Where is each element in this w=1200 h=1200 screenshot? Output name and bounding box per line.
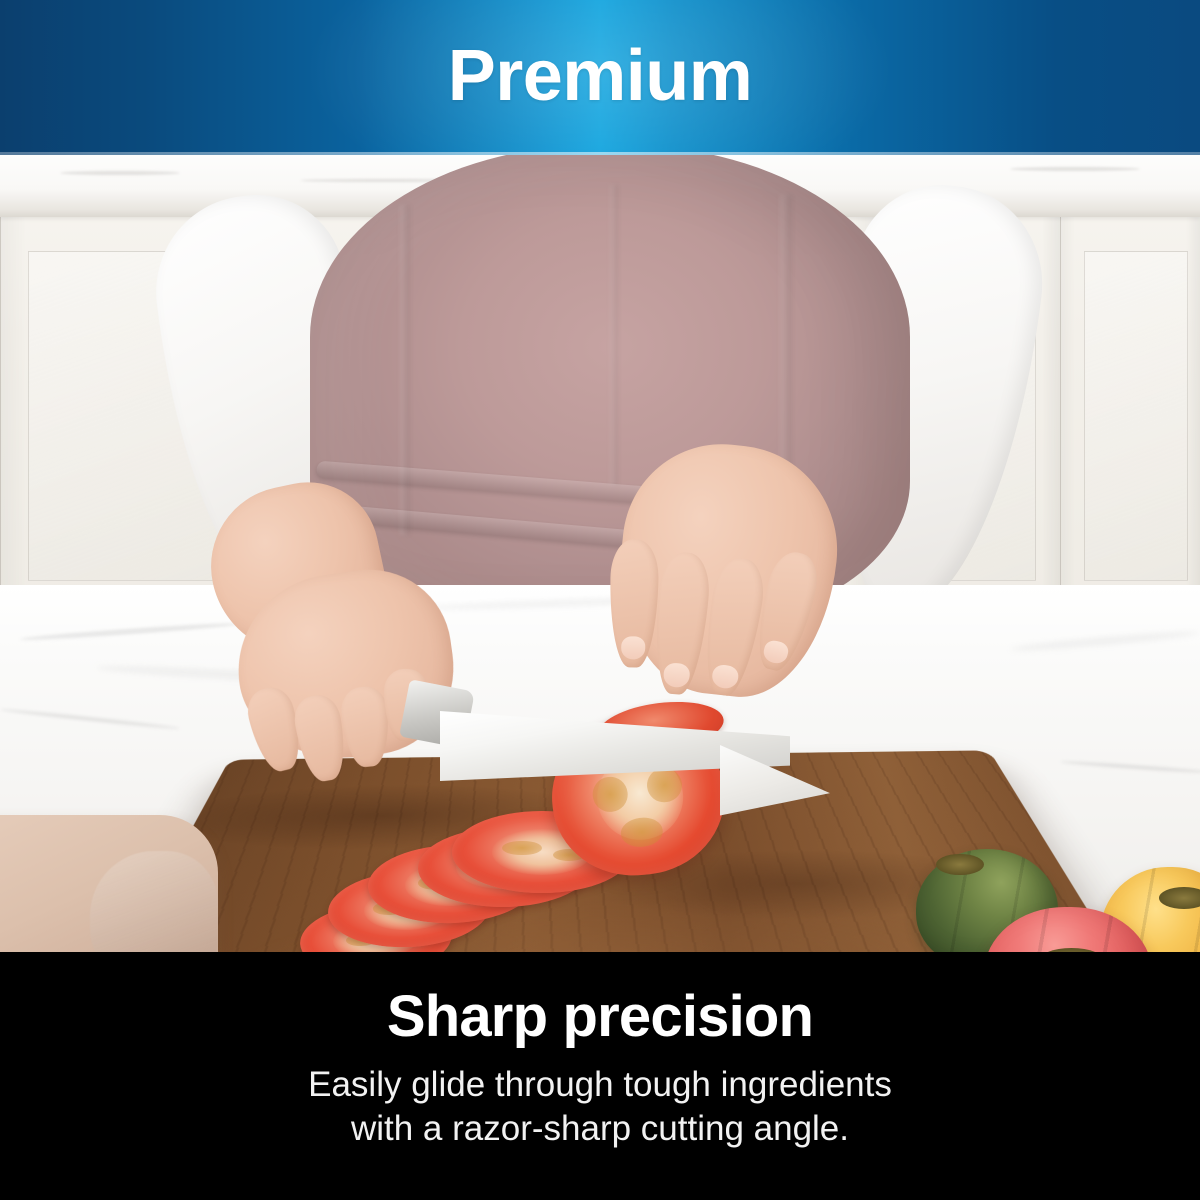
caption-title: Sharp precision (387, 986, 813, 1049)
apron-fold (400, 205, 410, 535)
fingernail (621, 636, 646, 659)
fingernail (711, 663, 740, 690)
tomato-seed-lobe (502, 841, 542, 856)
caption-subtitle-line-2: with a razor-sharp cutting angle. (308, 1107, 892, 1151)
caption-subtitle: Easily glide through tough ingredients w… (308, 1063, 892, 1151)
marble-vein (1010, 629, 1200, 654)
napkin-fold (90, 851, 218, 952)
apron-fold (610, 185, 618, 485)
fingernail (761, 639, 790, 666)
linen-napkin (0, 815, 218, 952)
banner-title: Premium (0, 0, 1200, 155)
caption-block: Sharp precision Easily glide through tou… (0, 952, 1200, 1200)
tomato-stem (1038, 948, 1105, 952)
marble-vein (60, 171, 180, 175)
marble-vein (1060, 760, 1200, 774)
marble-vein (20, 621, 240, 641)
marble-vein (0, 708, 179, 731)
caption-subtitle-line-1: Easily glide through tough ingredients (308, 1063, 892, 1107)
product-feature-card: Premium (0, 0, 1200, 1200)
cabinet-inset (1084, 251, 1188, 581)
finger (650, 551, 712, 697)
marble-vein (1010, 167, 1140, 171)
tomato-stem (936, 854, 984, 876)
fingernail (663, 662, 691, 688)
finger (609, 539, 659, 668)
premium-banner: Premium (0, 0, 1200, 155)
tomato-stem (1159, 887, 1200, 909)
finger (698, 555, 769, 699)
lifestyle-photo (0, 155, 1200, 952)
